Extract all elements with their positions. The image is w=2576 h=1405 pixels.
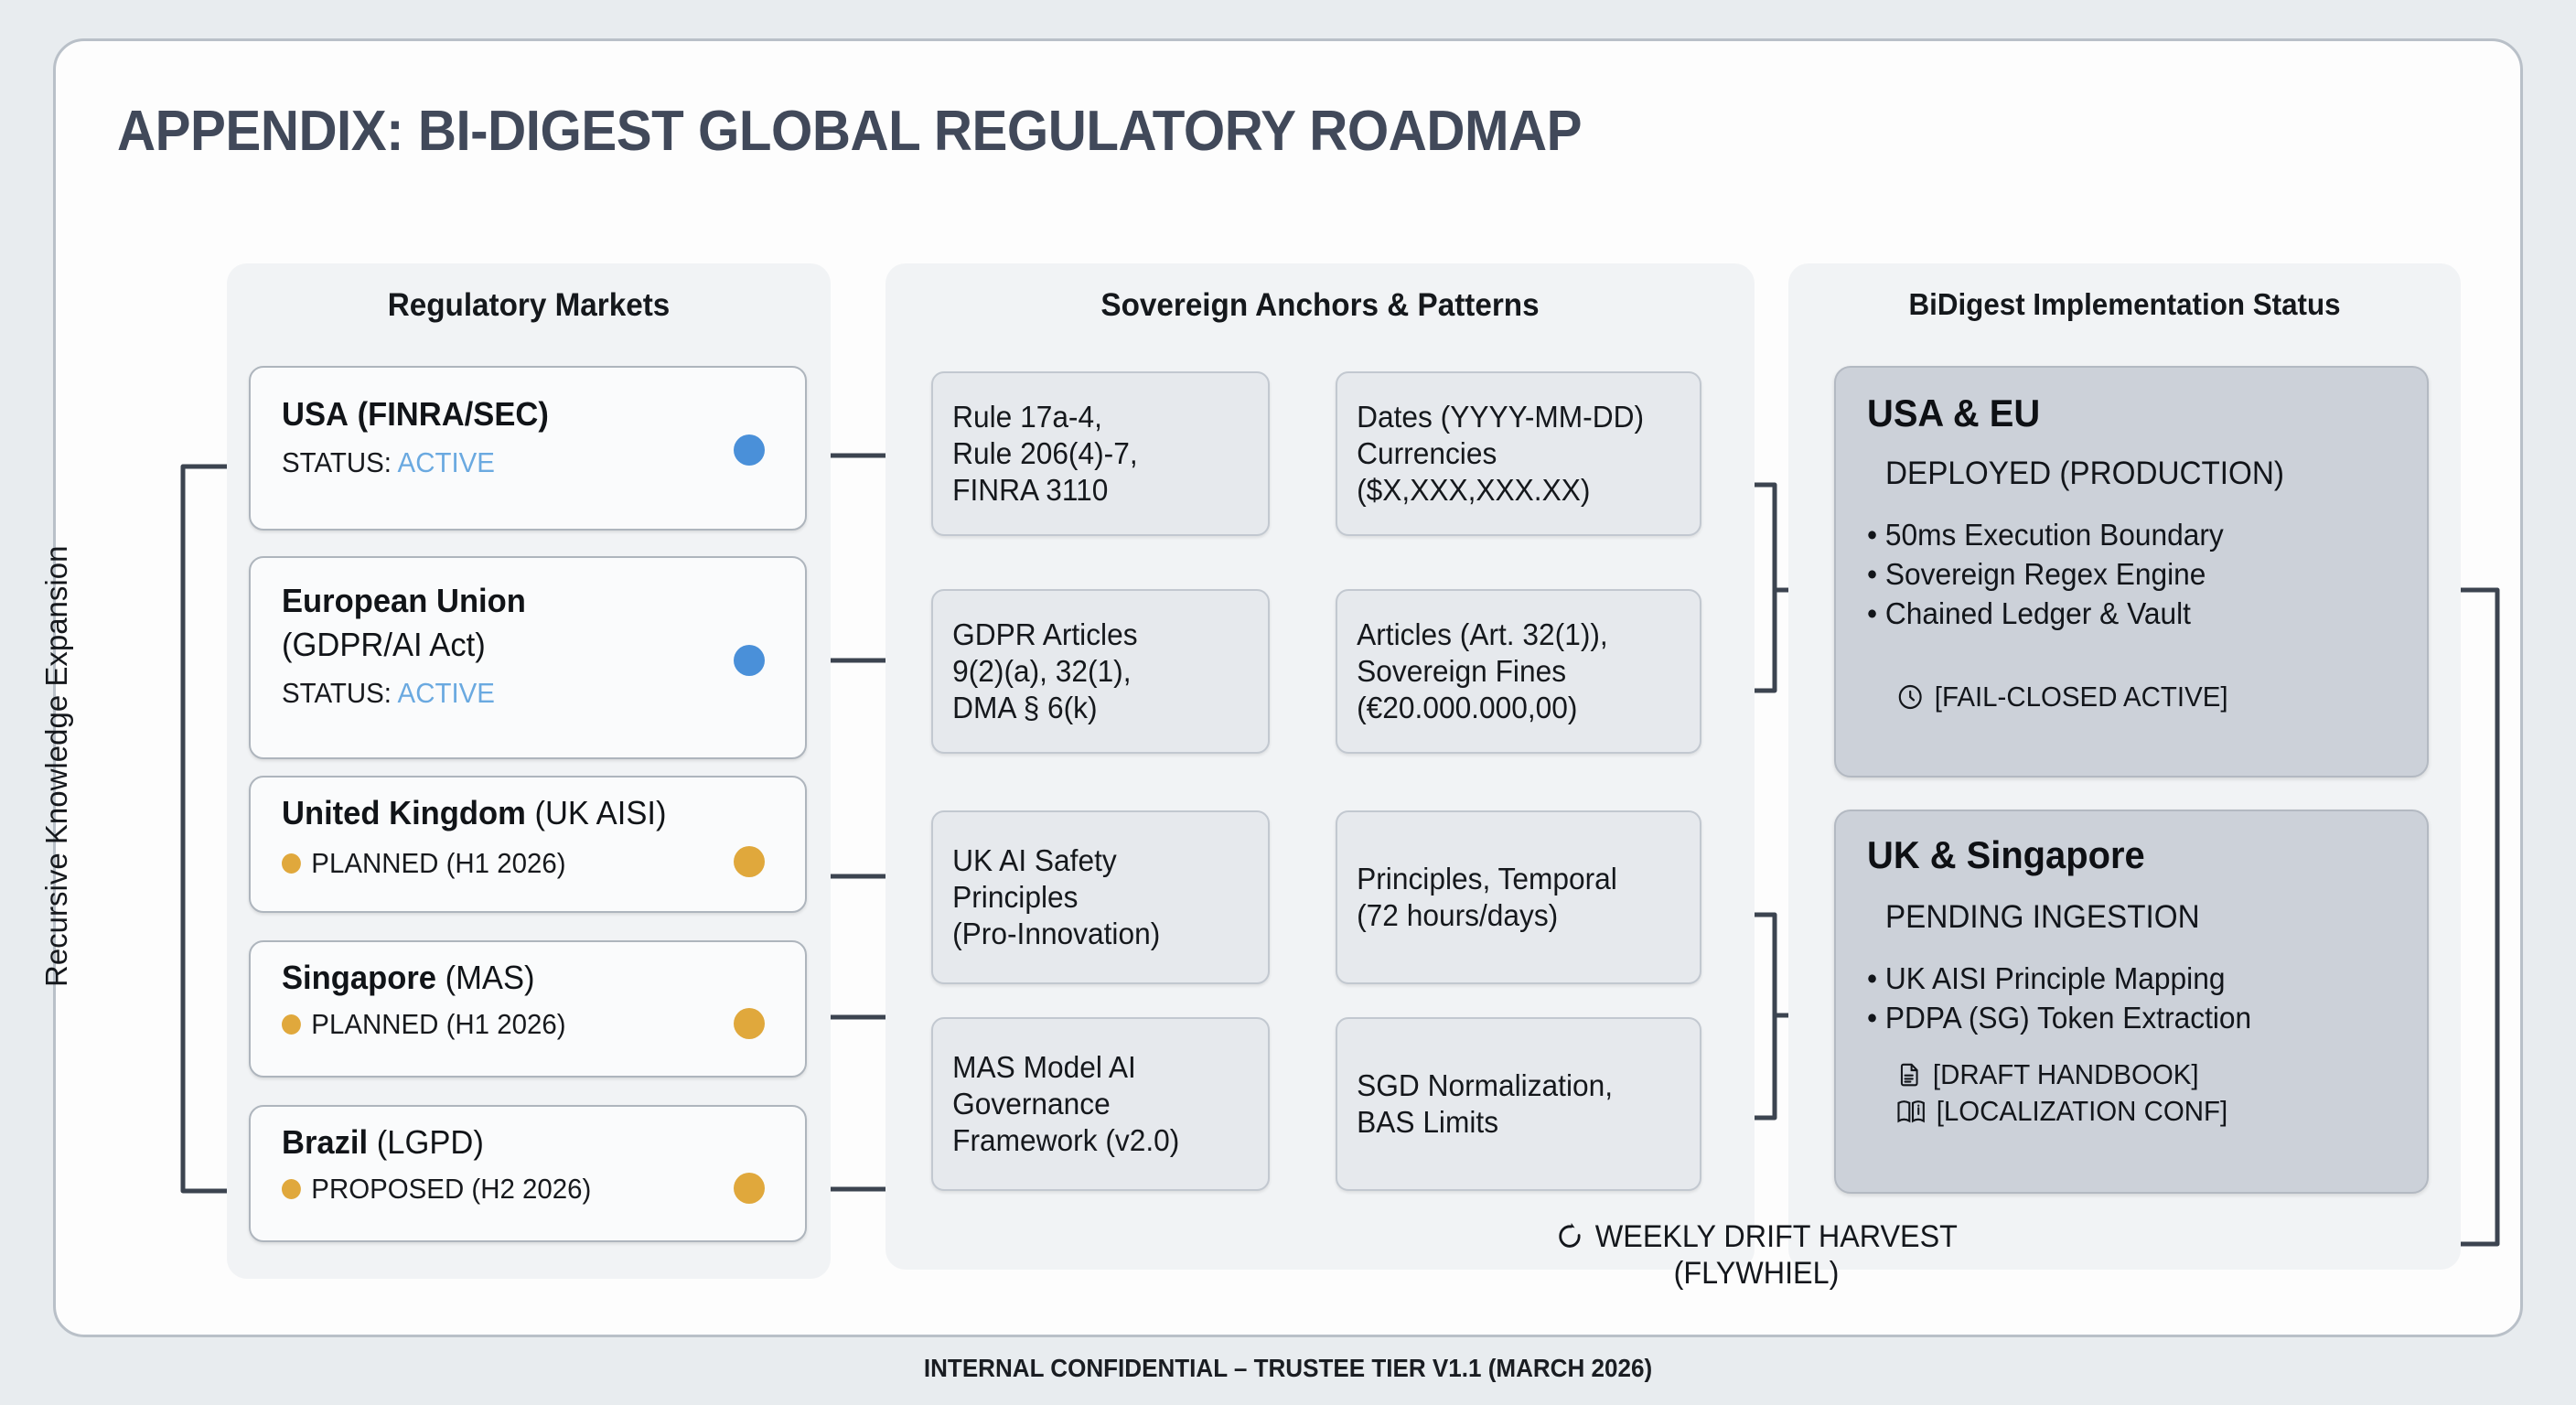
page-title: APPENDIX: BI-DIGEST GLOBAL REGULATORY RO…	[117, 99, 1582, 164]
status-state-usa-eu: DEPLOYED (PRODUCTION)	[1885, 456, 2284, 492]
anchor-box-uk[interactable]: UK AI Safety Principles (Pro-Innovation)	[931, 810, 1270, 984]
anchor-box-eu[interactable]: GDPR Articles 9(2)(a), 32(1), DMA § 6(k)	[931, 589, 1270, 754]
market-card-uk[interactable]: United Kingdom (UK AISI) PLANNED (H1 202…	[249, 776, 807, 913]
status-bullets-usa-eu: • 50ms Execution Boundary • Sovereign Re…	[1867, 516, 2224, 634]
market-status-usa: STATUS: ACTIVE	[282, 446, 495, 479]
flywheel-line2: (FLYWHIEL)	[1513, 1255, 2000, 1292]
pattern-box-sg[interactable]: SGD Normalization, BAS Limits	[1336, 1017, 1701, 1191]
tag-fail-closed: [FAIL-CLOSED ACTIVE]	[1896, 679, 2228, 715]
market-card-singapore[interactable]: Singapore (MAS) PLANNED (H1 2026)	[249, 940, 807, 1078]
status-dot-brazil	[734, 1173, 765, 1204]
document-icon	[1896, 1060, 1923, 1089]
bullet-item: • Sovereign Regex Engine	[1867, 555, 2224, 595]
market-name-brazil: Brazil (LGPD)	[282, 1123, 484, 1162]
flywheel-label: WEEKLY DRIFT HARVEST (FLYWHIEL)	[1513, 1218, 2000, 1292]
status-bullets-uk-sg: • UK AISI Principle Mapping • PDPA (SG) …	[1867, 960, 2251, 1038]
anchors-column-header: Sovereign Anchors & Patterns	[907, 287, 1733, 324]
bullet-item: • PDPA (SG) Token Extraction	[1867, 999, 2251, 1038]
tag-draft-handbook: [DRAFT HANDBOOK]	[1896, 1056, 2227, 1093]
pattern-text-sg: SGD Normalization, BAS Limits	[1337, 1067, 1630, 1142]
planned-dot-uk	[282, 853, 301, 874]
market-name-singapore: Singapore (MAS)	[282, 959, 535, 997]
refresh-ccw-icon	[1555, 1221, 1584, 1252]
book-icon	[1896, 1097, 1926, 1126]
market-card-eu[interactable]: European Union (GDPR/AI Act) STATUS: ACT…	[249, 556, 807, 759]
anchor-text-eu: GDPR Articles 9(2)(a), 32(1), DMA § 6(k)	[933, 617, 1155, 727]
pattern-text-usa: Dates (YYYY-MM-DD) Currencies ($X,XXX,XX…	[1337, 399, 1661, 509]
anchor-box-mas[interactable]: MAS Model AI Governance Framework (v2.0)	[931, 1017, 1270, 1191]
tag-label: [LOCALIZATION CONF]	[1937, 1093, 2228, 1130]
status-title-uk-sg: UK & Singapore	[1867, 833, 2145, 877]
status-dot-eu	[734, 645, 765, 676]
anchor-text-mas: MAS Model AI Governance Framework (v2.0)	[933, 1049, 1197, 1160]
anchor-text-usa: Rule 17a-4, Rule 206(4)-7, FINRA 3110	[933, 399, 1155, 509]
market-name-eu: European Union	[282, 582, 526, 620]
bullet-item: • UK AISI Principle Mapping	[1867, 960, 2251, 999]
recursive-expansion-label: Recursive Knowledge Expansion	[39, 566, 74, 987]
tag-label: [FAIL-CLOSED ACTIVE]	[1935, 679, 2228, 715]
market-card-usa[interactable]: USA (FINRA/SEC) STATUS: ACTIVE	[249, 366, 807, 531]
market-status-uk: PLANNED (H1 2026)	[282, 847, 566, 880]
status-column-header: BiDigest Implementation Status	[1805, 287, 2443, 322]
market-name-uk: United Kingdom (UK AISI)	[282, 794, 666, 832]
status-dot-singapore	[734, 1008, 765, 1039]
tag-label: [DRAFT HANDBOOK]	[1933, 1056, 2199, 1093]
market-card-brazil[interactable]: Brazil (LGPD) PROPOSED (H2 2026)	[249, 1105, 807, 1242]
anchor-text-uk: UK AI Safety Principles (Pro-Innovation)	[933, 842, 1177, 953]
pattern-text-uk: Principles, Temporal (72 hours/days)	[1337, 861, 1635, 935]
status-tags-uk-sg: [DRAFT HANDBOOK] [LOCALIZATION CONF]	[1896, 1056, 2227, 1129]
anchor-box-usa[interactable]: Rule 17a-4, Rule 206(4)-7, FINRA 3110	[931, 371, 1270, 536]
status-tags-usa-eu: [FAIL-CLOSED ACTIVE]	[1896, 679, 2228, 715]
diagram-canvas: APPENDIX: BI-DIGEST GLOBAL REGULATORY RO…	[0, 0, 2576, 1405]
footer-confidential: INTERNAL CONFIDENTIAL – TRUSTEE TIER V1.…	[91, 1354, 2486, 1383]
market-name-usa: USA (FINRA/SEC)	[282, 395, 549, 434]
bullet-item: • Chained Ledger & Vault	[1867, 595, 2224, 634]
bullet-item: • 50ms Execution Boundary	[1867, 516, 2224, 555]
pattern-box-usa[interactable]: Dates (YYYY-MM-DD) Currencies ($X,XXX,XX…	[1336, 371, 1701, 536]
status-state-uk-sg: PENDING INGESTION	[1885, 899, 2200, 936]
status-card-usa-eu[interactable]: USA & EU DEPLOYED (PRODUCTION) • 50ms Ex…	[1834, 366, 2429, 778]
planned-dot-singapore	[282, 1014, 301, 1035]
clock-icon	[1896, 682, 1924, 712]
status-card-uk-sg[interactable]: UK & Singapore PENDING INGESTION • UK AI…	[1834, 810, 2429, 1194]
status-dot-usa	[734, 434, 765, 466]
market-regulator-eu: (GDPR/AI Act)	[282, 626, 486, 664]
pattern-box-eu[interactable]: Articles (Art. 32(1)), Sovereign Fines (…	[1336, 589, 1701, 754]
market-status-singapore: PLANNED (H1 2026)	[282, 1008, 566, 1041]
proposed-dot-brazil	[282, 1179, 301, 1199]
market-status-brazil: PROPOSED (H2 2026)	[282, 1173, 591, 1206]
pattern-text-eu: Articles (Art. 32(1)), Sovereign Fines (…	[1337, 617, 1626, 727]
flywheel-line1: WEEKLY DRIFT HARVEST	[1595, 1218, 1958, 1255]
pattern-box-uk[interactable]: Principles, Temporal (72 hours/days)	[1336, 810, 1701, 984]
status-dot-uk	[734, 846, 765, 877]
status-title-usa-eu: USA & EU	[1867, 391, 2040, 435]
tag-localization-conf: [LOCALIZATION CONF]	[1896, 1093, 2227, 1130]
markets-column-header: Regulatory Markets	[242, 287, 816, 324]
market-status-eu: STATUS: ACTIVE	[282, 677, 495, 710]
